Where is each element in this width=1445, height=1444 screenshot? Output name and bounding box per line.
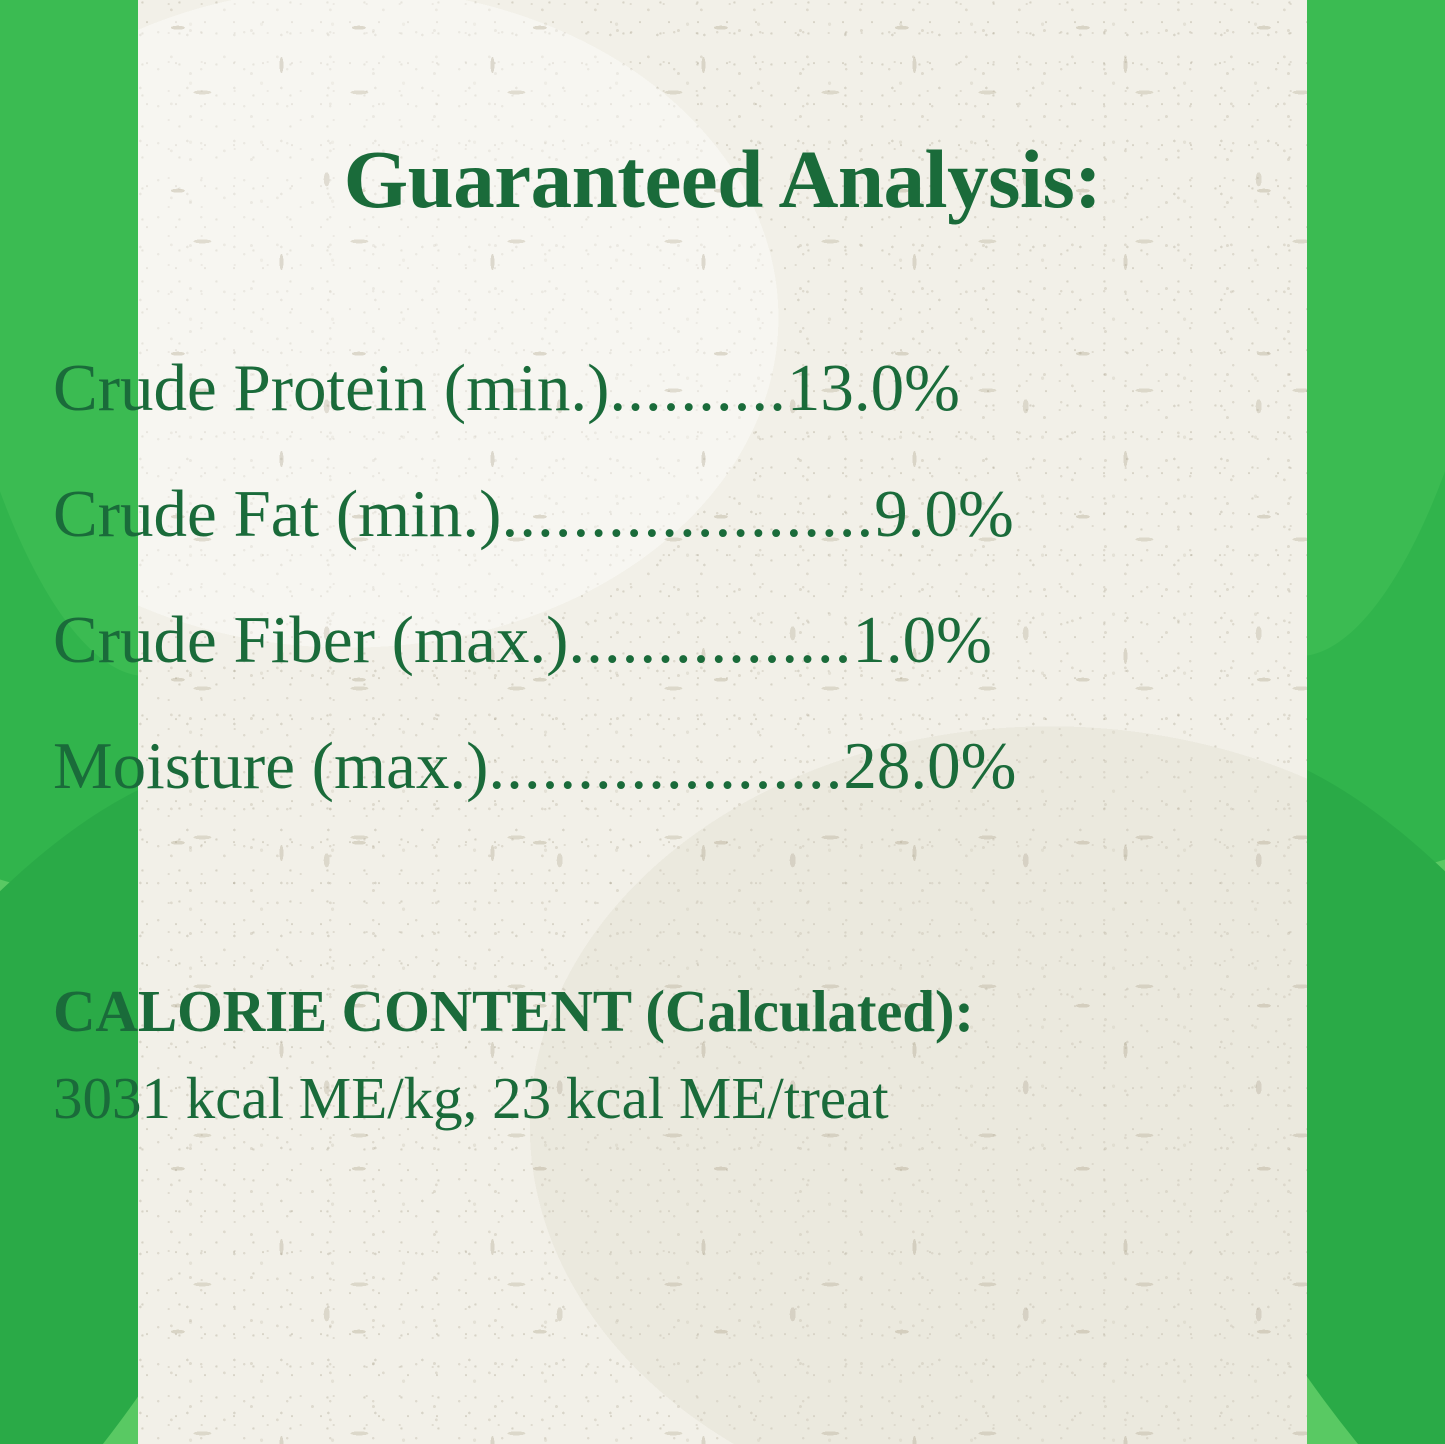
- calorie-content-heading: CALORIE CONTENT (Calculated):: [53, 982, 1113, 1041]
- nutrition-label-panel: Guaranteed Analysis: Crude Protein (min.…: [0, 0, 1445, 1444]
- analysis-row: Crude Fiber (max.) ................ 1.0%: [53, 607, 1106, 733]
- guaranteed-analysis-heading: Guaranteed Analysis:: [0, 138, 1445, 221]
- analysis-row-label: Crude Fat (min.): [53, 481, 501, 548]
- analysis-row-label: Crude Protein (min.): [53, 355, 609, 422]
- guaranteed-analysis-list: Crude Protein (min.) .......... 13.0% Cr…: [53, 355, 1106, 859]
- calorie-content-value: 3031 kcal ME/kg, 23 kcal ME/treat: [53, 1069, 1113, 1128]
- label-text-content: Guaranteed Analysis: Crude Protein (min.…: [0, 0, 1445, 1444]
- analysis-row-label: Moisture (max.): [53, 733, 488, 800]
- analysis-row-leaders: ................: [568, 607, 852, 674]
- analysis-row-value: 13.0%: [787, 355, 960, 422]
- analysis-row-leaders: ....................: [488, 733, 843, 800]
- analysis-row: Moisture (max.) .................... 28.…: [53, 733, 1106, 859]
- analysis-row-value: 9.0%: [874, 481, 1014, 548]
- analysis-row: Crude Fat (min.) ..................... 9…: [53, 481, 1106, 607]
- analysis-row-label: Crude Fiber (max.): [53, 607, 568, 674]
- analysis-row-value: 1.0%: [852, 607, 992, 674]
- analysis-row-leaders: .....................: [501, 481, 874, 548]
- calorie-content-section: CALORIE CONTENT (Calculated): 3031 kcal …: [53, 982, 1113, 1128]
- analysis-row: Crude Protein (min.) .......... 13.0%: [53, 355, 1106, 481]
- analysis-row-leaders: ..........: [609, 355, 787, 422]
- analysis-row-value: 28.0%: [843, 733, 1016, 800]
